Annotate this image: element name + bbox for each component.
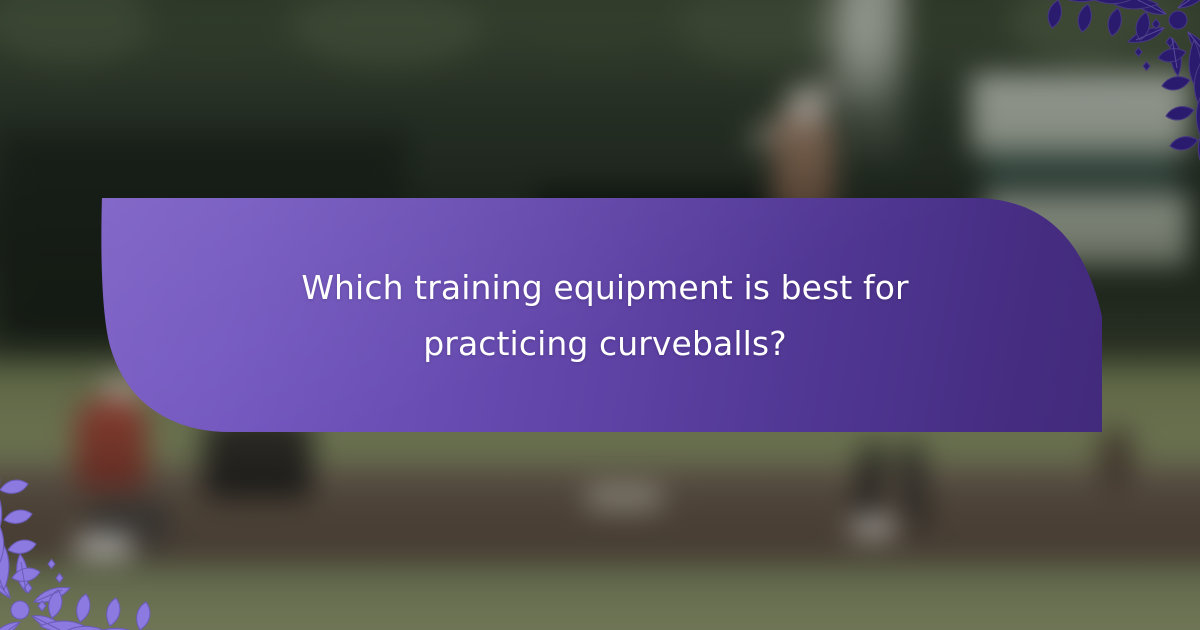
quote-line-2: practicing curveballs? [210, 316, 1000, 372]
quote-line-1: Which training equipment is best for [210, 260, 1000, 316]
floral-damask-corner-icon-bottom-left [0, 460, 170, 630]
quote-banner: Which training equipment is best for pra… [100, 196, 1102, 434]
floral-damask-corner-icon-top-right [1028, 0, 1200, 170]
quote-text: Which training equipment is best for pra… [210, 260, 1000, 372]
social-quote-card: Which training equipment is best for pra… [0, 0, 1200, 630]
